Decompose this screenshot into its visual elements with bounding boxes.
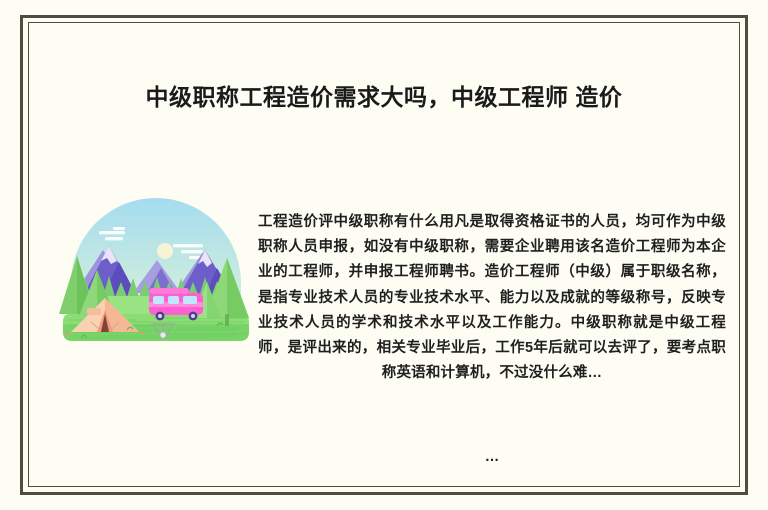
article-page: 中级职称工程造价需求大吗，中级工程师 造价	[0, 0, 768, 510]
page-title: 中级职称工程造价需求大吗，中级工程师 造价	[28, 78, 740, 112]
article-body-ellipsis: …	[258, 445, 726, 470]
sun-icon	[157, 243, 173, 259]
camping-scene-illustration	[57, 198, 255, 353]
article-body: 工程造价评中级职称有什么用凡是取得资格证书的人员，均可作为中级职称人员申报，如没…	[258, 210, 726, 386]
